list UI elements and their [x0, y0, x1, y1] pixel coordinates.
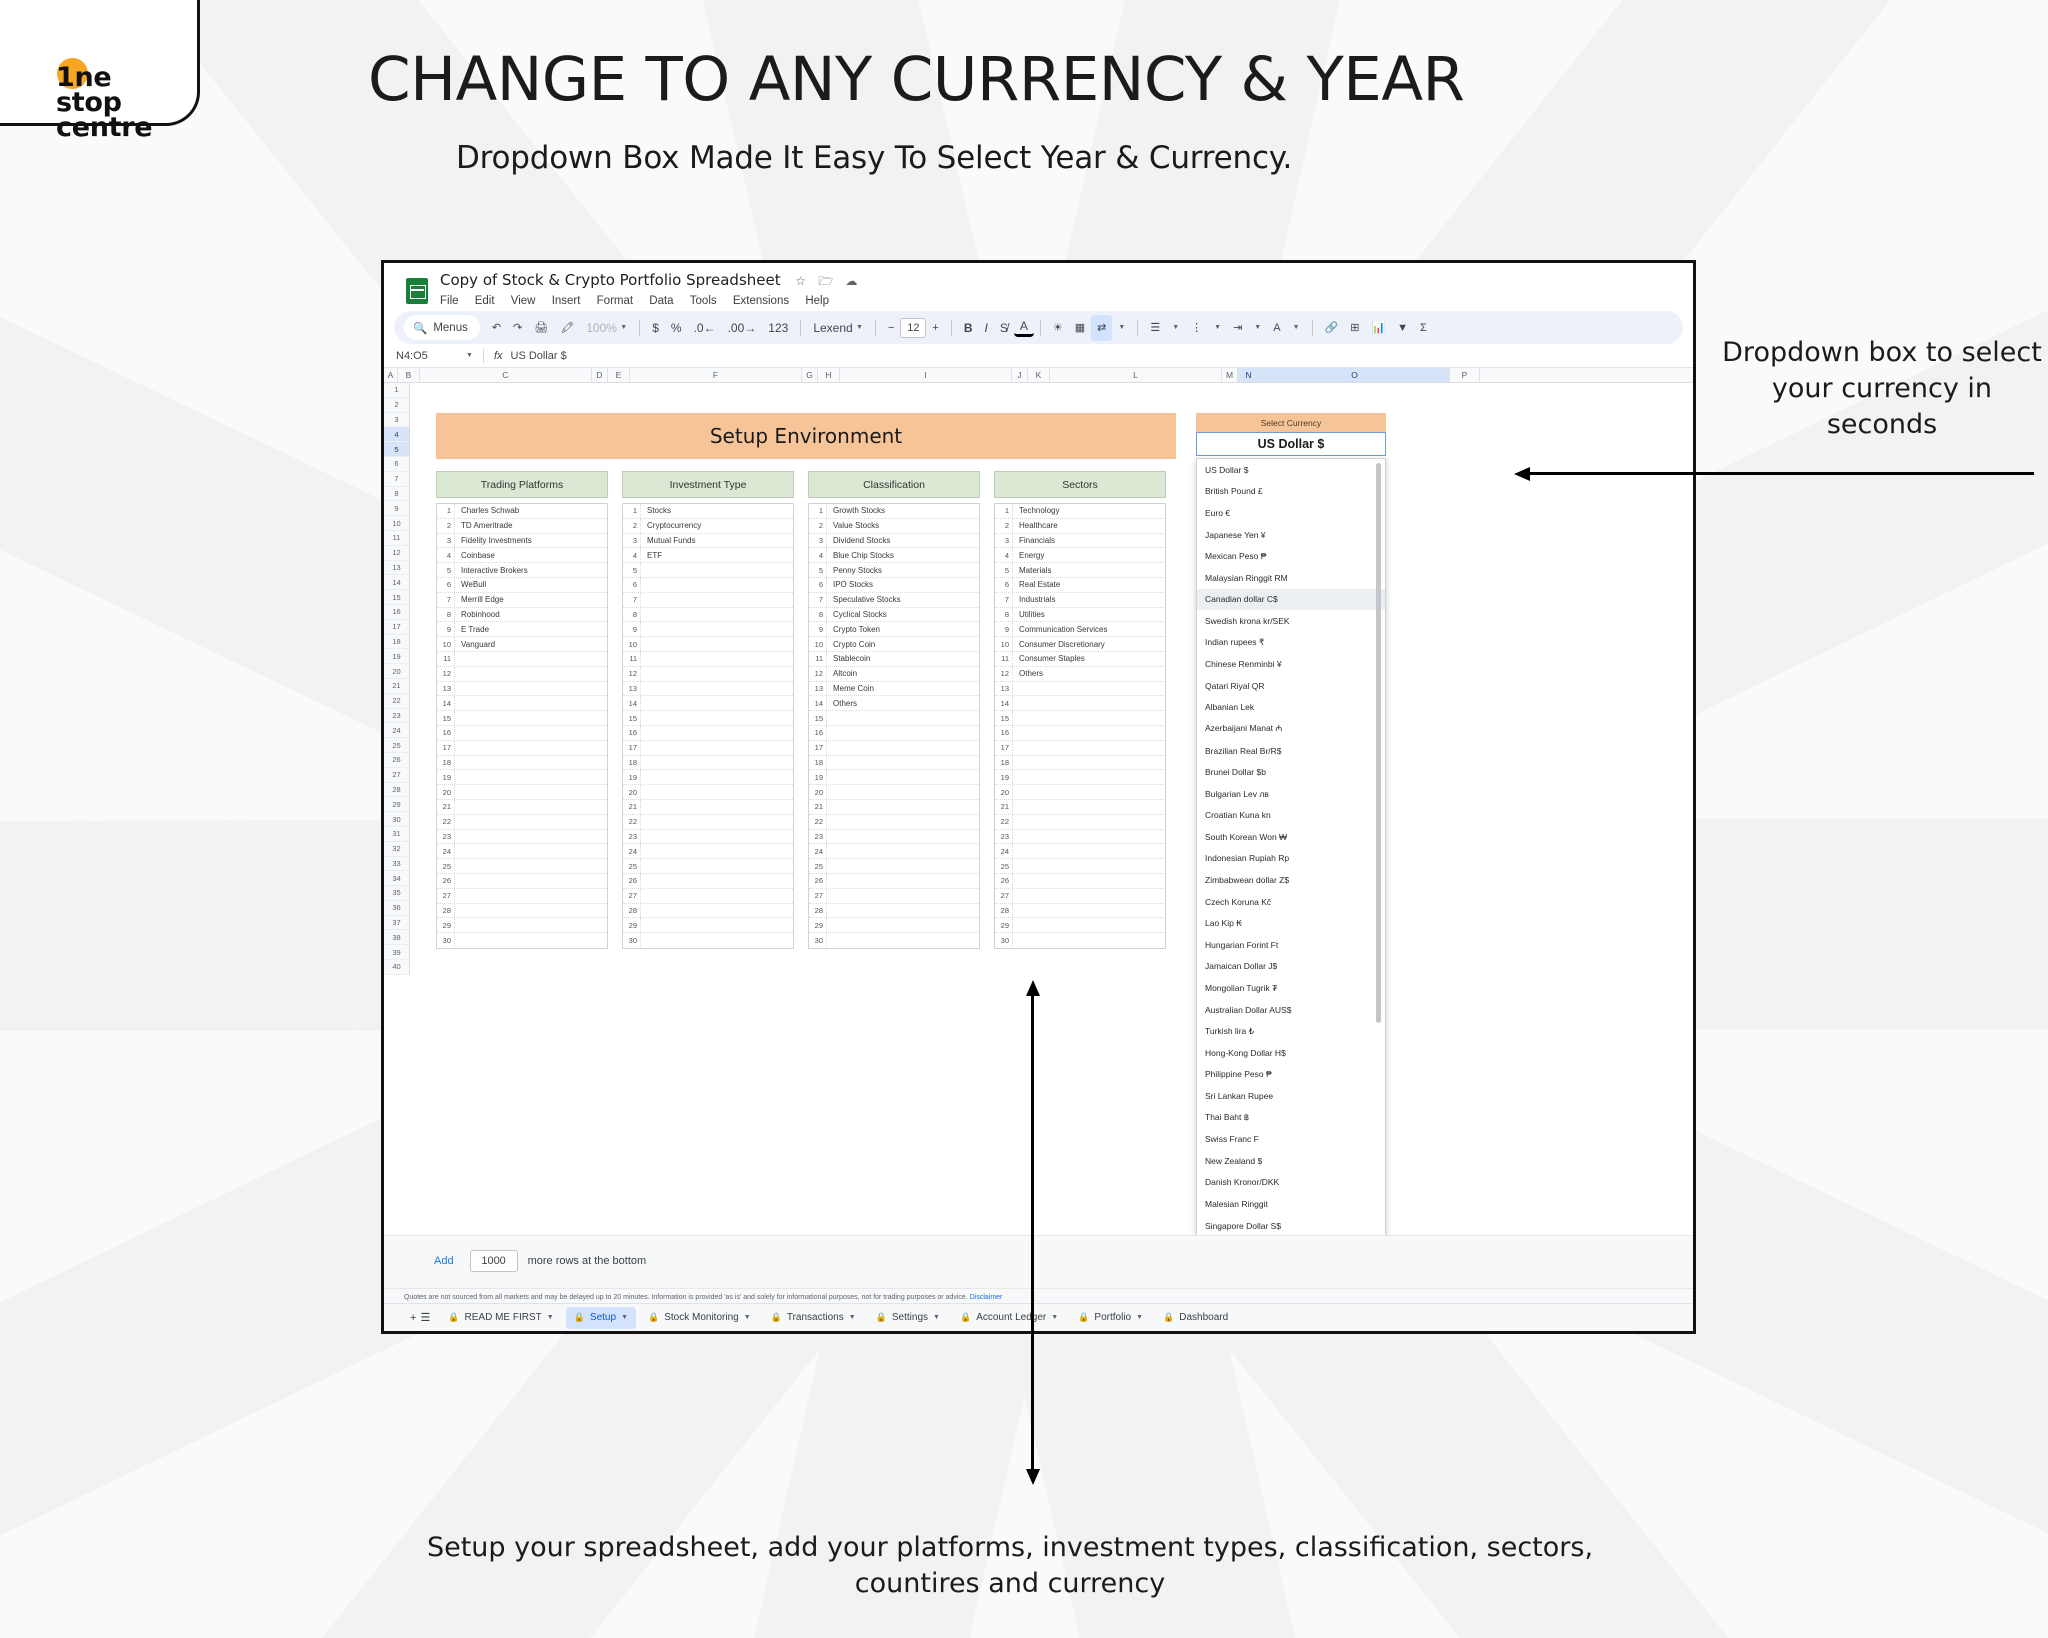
row-value[interactable]	[827, 711, 979, 725]
chevron-down-icon[interactable]: ▼	[1136, 1314, 1143, 1321]
row-value[interactable]: Stocks	[641, 504, 793, 518]
filter-icon[interactable]: ▼	[1391, 315, 1414, 341]
table-row[interactable]: 9E Trade	[437, 622, 607, 637]
vertical-align-icon[interactable]: ⋮	[1185, 315, 1208, 341]
row-value[interactable]: Cyclical Stocks	[827, 608, 979, 622]
row-value[interactable]	[641, 711, 793, 725]
row-value[interactable]	[455, 904, 607, 918]
row-value[interactable]	[641, 696, 793, 710]
table-row[interactable]: 9	[623, 622, 793, 637]
column-header-b[interactable]: B	[398, 368, 420, 382]
text-color-icon[interactable]: A	[1014, 318, 1034, 337]
row-value[interactable]	[1013, 682, 1165, 696]
table-row[interactable]: 19	[995, 770, 1165, 785]
row-header-27[interactable]: 27	[384, 768, 409, 783]
row-value[interactable]	[1013, 770, 1165, 784]
table-row[interactable]: 10Crypto Coin	[809, 637, 979, 652]
row-header-23[interactable]: 23	[384, 709, 409, 724]
row-value[interactable]	[1013, 696, 1165, 710]
row-value[interactable]	[1013, 815, 1165, 829]
row-value[interactable]	[641, 622, 793, 636]
table-row[interactable]: 15	[437, 711, 607, 726]
table-row[interactable]: 16	[809, 726, 979, 741]
currency-option[interactable]: Canadian dollar C$	[1197, 589, 1385, 611]
table-row[interactable]: 2Cryptocurrency	[623, 519, 793, 534]
table-row[interactable]: 28	[995, 904, 1165, 919]
table-row[interactable]: 25	[623, 859, 793, 874]
currency-option[interactable]: Indonesian Rupiah Rp	[1197, 848, 1385, 870]
table-row[interactable]: 30	[437, 933, 607, 948]
column-header-j[interactable]: J	[1012, 368, 1028, 382]
row-value[interactable]	[1013, 874, 1165, 888]
row-header-21[interactable]: 21	[384, 679, 409, 694]
insert-comment-icon[interactable]: ⊞	[1344, 315, 1365, 341]
row-value[interactable]	[827, 918, 979, 932]
row-header-15[interactable]: 15	[384, 590, 409, 605]
table-row[interactable]: 12Altcoin	[809, 667, 979, 682]
row-value[interactable]: Financials	[1013, 534, 1165, 548]
row-value[interactable]	[455, 667, 607, 681]
row-value[interactable]	[641, 874, 793, 888]
row-value[interactable]: Industrials	[1013, 593, 1165, 607]
table-row[interactable]: 23	[809, 830, 979, 845]
insert-chart-icon[interactable]: 📊	[1365, 315, 1391, 341]
chevron-down-icon[interactable]: ▼	[1248, 315, 1267, 341]
functions-icon[interactable]: Σ	[1414, 315, 1433, 341]
row-value[interactable]	[455, 741, 607, 755]
merge-cells-icon[interactable]: ⇄	[1091, 315, 1112, 341]
currency-option[interactable]: Swedish krona kr/SEK	[1197, 610, 1385, 632]
row-value[interactable]	[1013, 844, 1165, 858]
column-header-k[interactable]: K	[1028, 368, 1050, 382]
font-size-input[interactable]: 12	[900, 318, 926, 338]
table-row[interactable]: 16	[995, 726, 1165, 741]
table-row[interactable]: 1Charles Schwab	[437, 504, 607, 519]
table-row[interactable]: 8	[623, 608, 793, 623]
row-value[interactable]	[1013, 756, 1165, 770]
table-row[interactable]: 21	[809, 800, 979, 815]
table-row[interactable]: 20	[809, 785, 979, 800]
currency-option[interactable]: Indian rupees ₹	[1197, 632, 1385, 654]
chevron-down-icon[interactable]: ▼	[547, 1314, 554, 1321]
table-row[interactable]: 22	[437, 815, 607, 830]
row-header-31[interactable]: 31	[384, 827, 409, 842]
table-row[interactable]: 7Merrill Edge	[437, 593, 607, 608]
currency-option[interactable]: Albanian Lek	[1197, 697, 1385, 719]
currency-option[interactable]: Brazilian Real Br/R$	[1197, 740, 1385, 762]
table-row[interactable]: 23	[995, 830, 1165, 845]
table-row[interactable]: 26	[437, 874, 607, 889]
column-header-m[interactable]: M	[1222, 368, 1238, 382]
add-rows-link[interactable]: Add	[434, 1255, 454, 1267]
table-row[interactable]: 27	[995, 889, 1165, 904]
row-header-22[interactable]: 22	[384, 694, 409, 709]
row-value[interactable]	[827, 859, 979, 873]
currency-option[interactable]: Turkish lira ₺	[1197, 1020, 1385, 1042]
table-row[interactable]: 15	[809, 711, 979, 726]
row-value[interactable]	[455, 682, 607, 696]
currency-option[interactable]: Hungarian Forint Ft	[1197, 934, 1385, 956]
decrease-font-size-icon[interactable]: −	[882, 315, 900, 341]
row-value[interactable]: Consumer Discretionary	[1013, 637, 1165, 651]
table-row[interactable]: 26	[809, 874, 979, 889]
table-row[interactable]: 24	[623, 844, 793, 859]
chevron-down-icon[interactable]: ▼	[1166, 315, 1185, 341]
table-row[interactable]: 20	[623, 785, 793, 800]
row-value[interactable]: Crypto Token	[827, 622, 979, 636]
table-row[interactable]: 2Healthcare	[995, 519, 1165, 534]
row-value[interactable]	[641, 830, 793, 844]
menu-view[interactable]: View	[511, 295, 536, 307]
row-value[interactable]: TD Ameritrade	[455, 519, 607, 533]
row-header-38[interactable]: 38	[384, 930, 409, 945]
row-value[interactable]	[455, 696, 607, 710]
table-row[interactable]: 18	[437, 756, 607, 771]
table-row[interactable]: 22	[995, 815, 1165, 830]
table-row[interactable]: 3Mutual Funds	[623, 534, 793, 549]
table-row[interactable]: 14Others	[809, 696, 979, 711]
table-row[interactable]: 29	[623, 918, 793, 933]
zoom-select[interactable]: 100% ▼	[580, 315, 633, 341]
italic-icon[interactable]: I	[979, 315, 994, 341]
table-row[interactable]: 7	[623, 593, 793, 608]
currency-option[interactable]: New Zealand $	[1197, 1150, 1385, 1172]
all-sheets-icon[interactable]: ☰	[420, 1311, 430, 1324]
row-header-33[interactable]: 33	[384, 857, 409, 872]
row-value[interactable]: E Trade	[455, 622, 607, 636]
decrease-decimal-icon[interactable]: .0←	[688, 315, 722, 341]
table-row[interactable]: 24	[995, 844, 1165, 859]
row-header-7[interactable]: 7	[384, 472, 409, 487]
currency-option[interactable]: Croatian Kuna kn	[1197, 805, 1385, 827]
table-row[interactable]: 25	[809, 859, 979, 874]
menus-search-button[interactable]: 🔍 Menus	[404, 315, 480, 340]
currency-dropdown-list[interactable]: US Dollar $British Pound £Euro €Japanese…	[1196, 458, 1386, 1268]
row-header-28[interactable]: 28	[384, 783, 409, 798]
row-value[interactable]: WeBull	[455, 578, 607, 592]
row-value[interactable]: Blue Chip Stocks	[827, 548, 979, 562]
row-value[interactable]	[641, 770, 793, 784]
disclaimer-link[interactable]: Disclaimer	[970, 1294, 1003, 1301]
table-row[interactable]: 5	[623, 563, 793, 578]
row-header-18[interactable]: 18	[384, 635, 409, 650]
currency-option[interactable]: Zimbabwean dollar Z$	[1197, 869, 1385, 891]
table-row[interactable]: 28	[809, 904, 979, 919]
row-value[interactable]: Others	[1013, 667, 1165, 681]
move-to-folder-icon[interactable]: 🗁	[818, 272, 833, 293]
table-row[interactable]: 9Communication Services	[995, 622, 1165, 637]
row-value[interactable]	[1013, 859, 1165, 873]
table-row[interactable]: 4Blue Chip Stocks	[809, 548, 979, 563]
star-icon[interactable]: ☆	[795, 274, 806, 288]
table-row[interactable]: 4ETF	[623, 548, 793, 563]
row-value[interactable]: Penny Stocks	[827, 563, 979, 577]
menu-extensions[interactable]: Extensions	[733, 295, 789, 307]
column-header-d[interactable]: D	[592, 368, 608, 382]
row-value[interactable]	[827, 785, 979, 799]
table-row[interactable]: 10Consumer Discretionary	[995, 637, 1165, 652]
currency-option[interactable]: Czech Koruna Kč	[1197, 891, 1385, 913]
table-row[interactable]: 24	[809, 844, 979, 859]
currency-option[interactable]: US Dollar $	[1197, 459, 1385, 481]
table-row[interactable]: 2Value Stocks	[809, 519, 979, 534]
chevron-down-icon[interactable]: ▼	[849, 1314, 856, 1321]
currency-option[interactable]: Singapore Dollar S$	[1197, 1215, 1385, 1237]
row-header-4[interactable]: 4	[384, 427, 409, 442]
row-header-6[interactable]: 6	[384, 457, 409, 472]
row-header-32[interactable]: 32	[384, 842, 409, 857]
row-header-12[interactable]: 12	[384, 546, 409, 561]
row-value[interactable]	[827, 741, 979, 755]
row-value[interactable]	[827, 844, 979, 858]
row-value[interactable]	[455, 756, 607, 770]
row-value[interactable]	[641, 741, 793, 755]
row-value[interactable]	[455, 859, 607, 873]
row-value[interactable]	[455, 652, 607, 666]
column-header-l[interactable]: L	[1050, 368, 1222, 382]
table-row[interactable]: 20	[437, 785, 607, 800]
row-value[interactable]: Growth Stocks	[827, 504, 979, 518]
strikethrough-icon[interactable]: S̸	[994, 315, 1014, 341]
row-value[interactable]	[1013, 800, 1165, 814]
increase-font-size-icon[interactable]: +	[926, 315, 944, 341]
table-row[interactable]: 22	[623, 815, 793, 830]
currency-option[interactable]: South Korean Won ₩	[1197, 826, 1385, 848]
menu-file[interactable]: File	[440, 295, 459, 307]
row-value[interactable]	[827, 874, 979, 888]
currency-option[interactable]: Qatari Riyal QR	[1197, 675, 1385, 697]
chevron-down-icon[interactable]: ▼	[1208, 315, 1227, 341]
row-value[interactable]	[641, 637, 793, 651]
table-row[interactable]: 18	[995, 756, 1165, 771]
row-value[interactable]	[455, 874, 607, 888]
table-row[interactable]: 19	[623, 770, 793, 785]
table-row[interactable]: 13	[623, 682, 793, 697]
row-value[interactable]	[641, 682, 793, 696]
table-row[interactable]: 29	[995, 918, 1165, 933]
table-row[interactable]: 28	[437, 904, 607, 919]
table-row[interactable]: 8Robinhood	[437, 608, 607, 623]
undo-icon[interactable]: ↶	[486, 315, 507, 341]
currency-option[interactable]: Sri Lankan Rupee	[1197, 1085, 1385, 1107]
table-row[interactable]: 26	[623, 874, 793, 889]
sheet-tab-dashboard[interactable]: 🔒Dashboard	[1155, 1307, 1236, 1329]
table-row[interactable]: 11	[623, 652, 793, 667]
row-value[interactable]	[641, 593, 793, 607]
row-value[interactable]	[641, 785, 793, 799]
column-header-o[interactable]: O	[1260, 368, 1450, 382]
row-value[interactable]	[455, 815, 607, 829]
table-row[interactable]: 12Others	[995, 667, 1165, 682]
row-value[interactable]	[827, 933, 979, 948]
table-row[interactable]: 16	[623, 726, 793, 741]
table-row[interactable]: 21	[623, 800, 793, 815]
row-value[interactable]	[455, 889, 607, 903]
chevron-down-icon[interactable]: ▼	[621, 1314, 628, 1321]
row-value[interactable]	[827, 770, 979, 784]
currency-option[interactable]: Mongolian Tugrik ₮	[1197, 977, 1385, 999]
row-value[interactable]: Consumer Staples	[1013, 652, 1165, 666]
table-row[interactable]: 1Technology	[995, 504, 1165, 519]
column-header-a[interactable]: A	[384, 368, 398, 382]
row-value[interactable]	[827, 726, 979, 740]
menu-tools[interactable]: Tools	[690, 295, 717, 307]
row-value[interactable]: IPO Stocks	[827, 578, 979, 592]
row-value[interactable]	[827, 889, 979, 903]
borders-icon[interactable]: ▦	[1069, 315, 1091, 341]
row-value[interactable]	[1013, 889, 1165, 903]
menu-data[interactable]: Data	[649, 295, 673, 307]
more-formats-icon[interactable]: 123	[762, 315, 794, 341]
row-header-10[interactable]: 10	[384, 516, 409, 531]
row-value[interactable]	[455, 918, 607, 932]
table-row[interactable]: 24	[437, 844, 607, 859]
row-value[interactable]	[641, 859, 793, 873]
table-row[interactable]: 10Vanguard	[437, 637, 607, 652]
table-row[interactable]: 6WeBull	[437, 578, 607, 593]
row-value[interactable]	[1013, 711, 1165, 725]
chevron-down-icon[interactable]: ▼	[1051, 1314, 1058, 1321]
row-header-30[interactable]: 30	[384, 812, 409, 827]
row-value[interactable]	[1013, 741, 1165, 755]
row-value[interactable]	[455, 711, 607, 725]
table-row[interactable]: 27	[437, 889, 607, 904]
row-value[interactable]	[827, 904, 979, 918]
row-value[interactable]: Interactive Brokers	[455, 563, 607, 577]
table-row[interactable]: 23	[437, 830, 607, 845]
formula-input[interactable]: US Dollar $	[511, 350, 567, 362]
table-row[interactable]: 22	[809, 815, 979, 830]
row-value[interactable]	[641, 726, 793, 740]
table-row[interactable]: 2TD Ameritrade	[437, 519, 607, 534]
insert-link-icon[interactable]: 🔗	[1319, 315, 1345, 341]
table-row[interactable]: 30	[995, 933, 1165, 948]
row-value[interactable]: Energy	[1013, 548, 1165, 562]
table-row[interactable]: 29	[809, 918, 979, 933]
redo-icon[interactable]: ↷	[507, 315, 528, 341]
menu-help[interactable]: Help	[805, 295, 829, 307]
row-header-35[interactable]: 35	[384, 886, 409, 901]
row-value[interactable]	[827, 815, 979, 829]
row-header-19[interactable]: 19	[384, 649, 409, 664]
row-value[interactable]: ETF	[641, 548, 793, 562]
row-header-16[interactable]: 16	[384, 605, 409, 620]
row-header-1[interactable]: 1	[384, 383, 409, 398]
currency-option[interactable]: Bulgarian Lev лв	[1197, 783, 1385, 805]
table-row[interactable]: 14	[995, 696, 1165, 711]
row-value[interactable]	[641, 667, 793, 681]
table-row[interactable]: 9Crypto Token	[809, 622, 979, 637]
table-row[interactable]: 14	[437, 696, 607, 711]
text-rotation-icon[interactable]: A	[1267, 315, 1286, 341]
font-family-select[interactable]: Lexend ▼	[807, 315, 869, 341]
row-value[interactable]: Materials	[1013, 563, 1165, 577]
sheet-tab-stock-monitoring[interactable]: 🔒Stock Monitoring▼	[640, 1307, 759, 1329]
row-value[interactable]	[641, 578, 793, 592]
table-row[interactable]: 21	[437, 800, 607, 815]
table-row[interactable]: 7Speculative Stocks	[809, 593, 979, 608]
sheet-tab-setup[interactable]: 🔒Setup▼	[566, 1307, 636, 1329]
row-header-17[interactable]: 17	[384, 620, 409, 635]
column-header-c[interactable]: C	[420, 368, 592, 382]
row-value[interactable]: Charles Schwab	[455, 504, 607, 518]
currency-option[interactable]: Malaysian Ringgit RM	[1197, 567, 1385, 589]
currency-option[interactable]: Danish Kronor/DKK	[1197, 1172, 1385, 1194]
row-value[interactable]: Cryptocurrency	[641, 519, 793, 533]
row-value[interactable]	[1013, 830, 1165, 844]
row-value[interactable]: Merrill Edge	[455, 593, 607, 607]
table-row[interactable]: 30	[623, 933, 793, 948]
table-row[interactable]: 19	[437, 770, 607, 785]
row-value[interactable]	[1013, 726, 1165, 740]
table-row[interactable]: 11Stablecoin	[809, 652, 979, 667]
dropdown-scrollbar[interactable]	[1376, 463, 1381, 1023]
table-row[interactable]: 6	[623, 578, 793, 593]
table-row[interactable]: 17	[995, 741, 1165, 756]
column-header-e[interactable]: E	[608, 368, 630, 382]
sheet-tab-account-ledger[interactable]: 🔒Account Ledger▼	[952, 1307, 1066, 1329]
paint-format-icon[interactable]: 🖍	[554, 315, 580, 341]
table-row[interactable]: 30	[809, 933, 979, 948]
row-value[interactable]: Mutual Funds	[641, 534, 793, 548]
currency-option[interactable]: Lao Kip ₭	[1197, 912, 1385, 934]
row-value[interactable]: Healthcare	[1013, 519, 1165, 533]
table-row[interactable]: 1Stocks	[623, 504, 793, 519]
row-value[interactable]	[827, 830, 979, 844]
table-row[interactable]: 4Energy	[995, 548, 1165, 563]
chevron-down-icon[interactable]: ▼	[744, 1314, 751, 1321]
row-value[interactable]	[641, 608, 793, 622]
menu-insert[interactable]: Insert	[552, 295, 581, 307]
row-value[interactable]: Stablecoin	[827, 652, 979, 666]
row-value[interactable]	[455, 933, 607, 948]
row-value[interactable]	[1013, 933, 1165, 948]
table-row[interactable]: 17	[623, 741, 793, 756]
table-row[interactable]: 8Cyclical Stocks	[809, 608, 979, 623]
menu-format[interactable]: Format	[597, 295, 633, 307]
menu-edit[interactable]: Edit	[475, 295, 495, 307]
add-sheet-icon[interactable]: +	[410, 1312, 416, 1324]
currency-dropdown-cell[interactable]: US Dollar $	[1196, 432, 1386, 456]
row-header-8[interactable]: 8	[384, 487, 409, 502]
table-row[interactable]: 28	[623, 904, 793, 919]
row-value[interactable]: Others	[827, 696, 979, 710]
currency-option[interactable]: Malesian Ringgit	[1197, 1193, 1385, 1215]
row-header-20[interactable]: 20	[384, 664, 409, 679]
row-value[interactable]	[827, 756, 979, 770]
table-row[interactable]: 11	[437, 652, 607, 667]
table-row[interactable]: 5Materials	[995, 563, 1165, 578]
row-header-13[interactable]: 13	[384, 561, 409, 576]
table-row[interactable]: 18	[623, 756, 793, 771]
currency-option[interactable]: Mexican Peso ₱	[1197, 545, 1385, 567]
table-row[interactable]: 10	[623, 637, 793, 652]
row-value[interactable]: Robinhood	[455, 608, 607, 622]
row-value[interactable]: Speculative Stocks	[827, 593, 979, 607]
column-header-h[interactable]: H	[818, 368, 840, 382]
row-value[interactable]	[455, 770, 607, 784]
table-row[interactable]: 26	[995, 874, 1165, 889]
column-header-f[interactable]: F	[630, 368, 802, 382]
row-value[interactable]	[455, 726, 607, 740]
row-header-5[interactable]: 5	[384, 442, 409, 457]
table-row[interactable]: 13Meme Coin	[809, 682, 979, 697]
column-header-p[interactable]: P	[1450, 368, 1480, 382]
column-header-i[interactable]: I	[840, 368, 1012, 382]
row-value[interactable]	[1013, 785, 1165, 799]
currency-option[interactable]: Australian Dollar AUS$	[1197, 999, 1385, 1021]
text-wrap-icon[interactable]: ⇥	[1227, 315, 1248, 341]
